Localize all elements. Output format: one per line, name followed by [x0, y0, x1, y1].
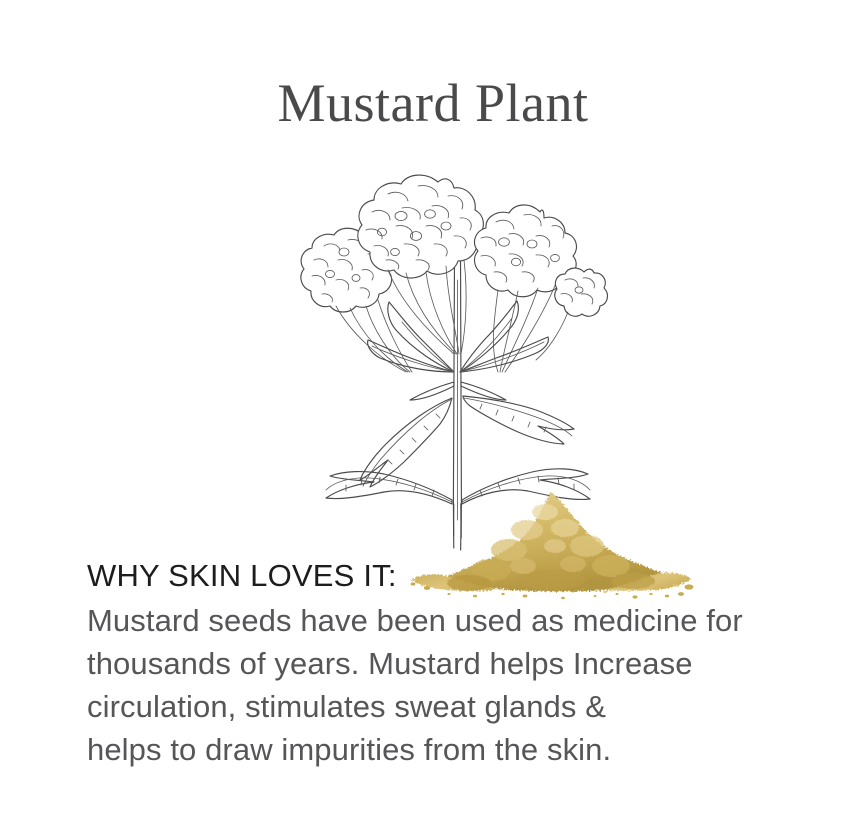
- mustard-plant-info-card: Mustard Plant: [0, 0, 866, 826]
- body-line-1: Mustard seeds have been used as medicine…: [87, 599, 847, 642]
- why-skin-loves-it-body: Mustard seeds have been used as medicine…: [87, 599, 847, 771]
- why-skin-loves-it-block: WHY SKIN LOVES IT: Mustard seeds have be…: [87, 556, 847, 771]
- upper-leaf-whorl: [368, 301, 549, 372]
- mid-leaf-pair: [360, 396, 574, 487]
- body-line-4: helps to draw impurities from the skin.: [87, 728, 847, 771]
- flower-cluster-center: [358, 175, 484, 354]
- why-skin-loves-it-heading: WHY SKIN LOVES IT:: [87, 556, 847, 596]
- page-title: Mustard Plant: [0, 74, 866, 133]
- node-leaflets: [410, 382, 506, 400]
- body-line-3: circulation, stimulates sweat glands &: [87, 685, 847, 728]
- body-line-2: thousands of years. Mustard helps Increa…: [87, 642, 847, 685]
